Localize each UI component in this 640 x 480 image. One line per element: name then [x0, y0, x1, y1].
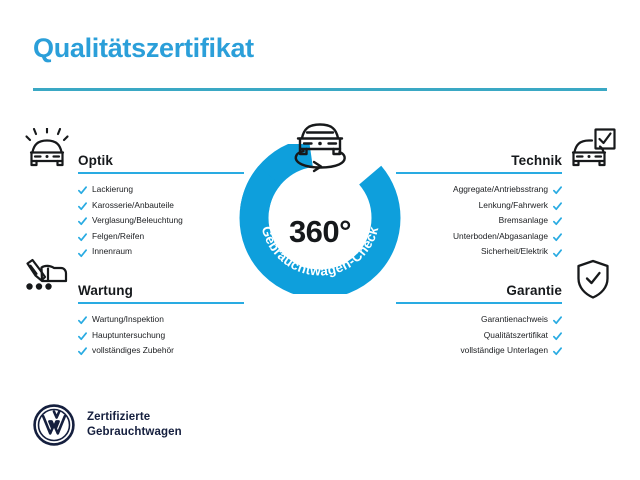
check-icon: [553, 248, 562, 257]
list-item-label: Wartung/Inspektion: [92, 312, 164, 328]
list-item-label: Verglasung/Beleuchtung: [92, 213, 183, 229]
list-item: vollständige Unterlagen: [396, 343, 562, 359]
page-title: Qualitätszertifikat: [33, 33, 254, 64]
list-item: Felgen/Reifen: [78, 229, 244, 245]
list-item-label: Lackierung: [92, 182, 133, 198]
footer-line-1: Zertifizierte: [87, 410, 182, 425]
badge-degrees-label: 360°: [232, 214, 408, 250]
list-item: vollständiges Zubehör: [78, 343, 244, 359]
list-item-label: Qualitätszertifikat: [484, 328, 548, 344]
list-item: Aggregate/Antriebsstrang: [396, 182, 562, 198]
list-item: Lenkung/Fahrwerk: [396, 198, 562, 214]
check-icon: [78, 315, 87, 324]
section-title-block: Optik: [78, 153, 244, 174]
title-divider: [33, 88, 607, 91]
shield-check-icon: [570, 258, 616, 302]
section-title: Technik: [396, 153, 562, 168]
section-wartung: Wartung Wartung/Inspektion Hauptuntersuc…: [24, 258, 244, 359]
list-item-label: Aggregate/Antriebsstrang: [453, 182, 548, 198]
list-item-label: vollständiges Zubehör: [92, 343, 174, 359]
check-icon: [553, 331, 562, 340]
volkswagen-wordmark: Zertifizierte Gebrauchtwagen: [87, 410, 182, 440]
list-item: Lackierung: [78, 182, 244, 198]
section-optik: Optik Lackierung Karosserie/Anbauteile: [24, 128, 244, 260]
car-checkbox-icon: [570, 128, 616, 172]
checklist-garantie: Garantienachweis Qualitätszertifikat vol…: [396, 312, 616, 359]
section-underline: [78, 302, 244, 304]
check-icon: [553, 185, 562, 194]
car-polish-icon: [24, 128, 70, 172]
section-header: Garantie: [396, 258, 616, 304]
list-item-label: Felgen/Reifen: [92, 229, 144, 245]
checklist-wartung: Wartung/Inspektion Hauptuntersuchung vol…: [24, 312, 244, 359]
section-underline: [396, 302, 562, 304]
certificate-page: Qualitätszertifikat: [0, 0, 640, 480]
section-underline: [78, 172, 244, 174]
check-icon: [553, 201, 562, 210]
check-icon: [78, 346, 87, 355]
car-service-wrench-icon: [24, 258, 70, 302]
list-item: Verglasung/Beleuchtung: [78, 213, 244, 229]
list-item: Bremsanlage: [396, 213, 562, 229]
check-icon: [553, 232, 562, 241]
section-title-block: Technik: [396, 153, 562, 174]
section-header: Technik: [396, 128, 616, 174]
list-item-label: vollständige Unterlagen: [460, 343, 548, 359]
section-header: Wartung: [24, 258, 244, 304]
volkswagen-footer: Zertifizierte Gebrauchtwagen: [33, 404, 182, 446]
check-icon: [553, 216, 562, 225]
car-rotation-icon: [278, 118, 362, 174]
check-icon: [78, 201, 87, 210]
list-item-label: Bremsanlage: [499, 213, 548, 229]
section-header: Optik: [24, 128, 244, 174]
section-garantie: Garantie Garantienachweis Qualitätszerti…: [396, 258, 616, 359]
checklist-technik: Aggregate/Antriebsstrang Lenkung/Fahrwer…: [396, 182, 616, 260]
section-technik: Technik Aggregate/Antriebsstrang Lenkung…: [396, 128, 616, 260]
volkswagen-logo: [33, 404, 75, 446]
section-title-block: Wartung: [78, 283, 244, 304]
footer-line-2: Gebrauchtwagen: [87, 425, 182, 440]
list-item-label: Unterboden/Abgasanlage: [453, 229, 548, 245]
list-item-label: Hauptuntersuchung: [92, 328, 165, 344]
list-item: Unterboden/Abgasanlage: [396, 229, 562, 245]
list-item: Garantienachweis: [396, 312, 562, 328]
section-underline: [396, 172, 562, 174]
list-item-label: Lenkung/Fahrwerk: [479, 198, 548, 214]
section-title: Optik: [78, 153, 244, 168]
section-title-block: Garantie: [396, 283, 562, 304]
check-icon: [78, 331, 87, 340]
check-icon: [78, 248, 87, 257]
check-icon: [78, 232, 87, 241]
list-item: Qualitätszertifikat: [396, 328, 562, 344]
360-check-badge: Gebrauchtwagen-Check 360°: [232, 118, 408, 294]
list-item-label: Garantienachweis: [481, 312, 548, 328]
check-icon: [78, 185, 87, 194]
list-item: Wartung/Inspektion: [78, 312, 244, 328]
checklist-optik: Lackierung Karosserie/Anbauteile Verglas…: [24, 182, 244, 260]
check-icon: [78, 216, 87, 225]
section-title: Wartung: [78, 283, 244, 298]
check-icon: [553, 315, 562, 324]
list-item: Hauptuntersuchung: [78, 328, 244, 344]
section-title: Garantie: [396, 283, 562, 298]
check-icon: [553, 346, 562, 355]
list-item: Karosserie/Anbauteile: [78, 198, 244, 214]
list-item-label: Karosserie/Anbauteile: [92, 198, 174, 214]
